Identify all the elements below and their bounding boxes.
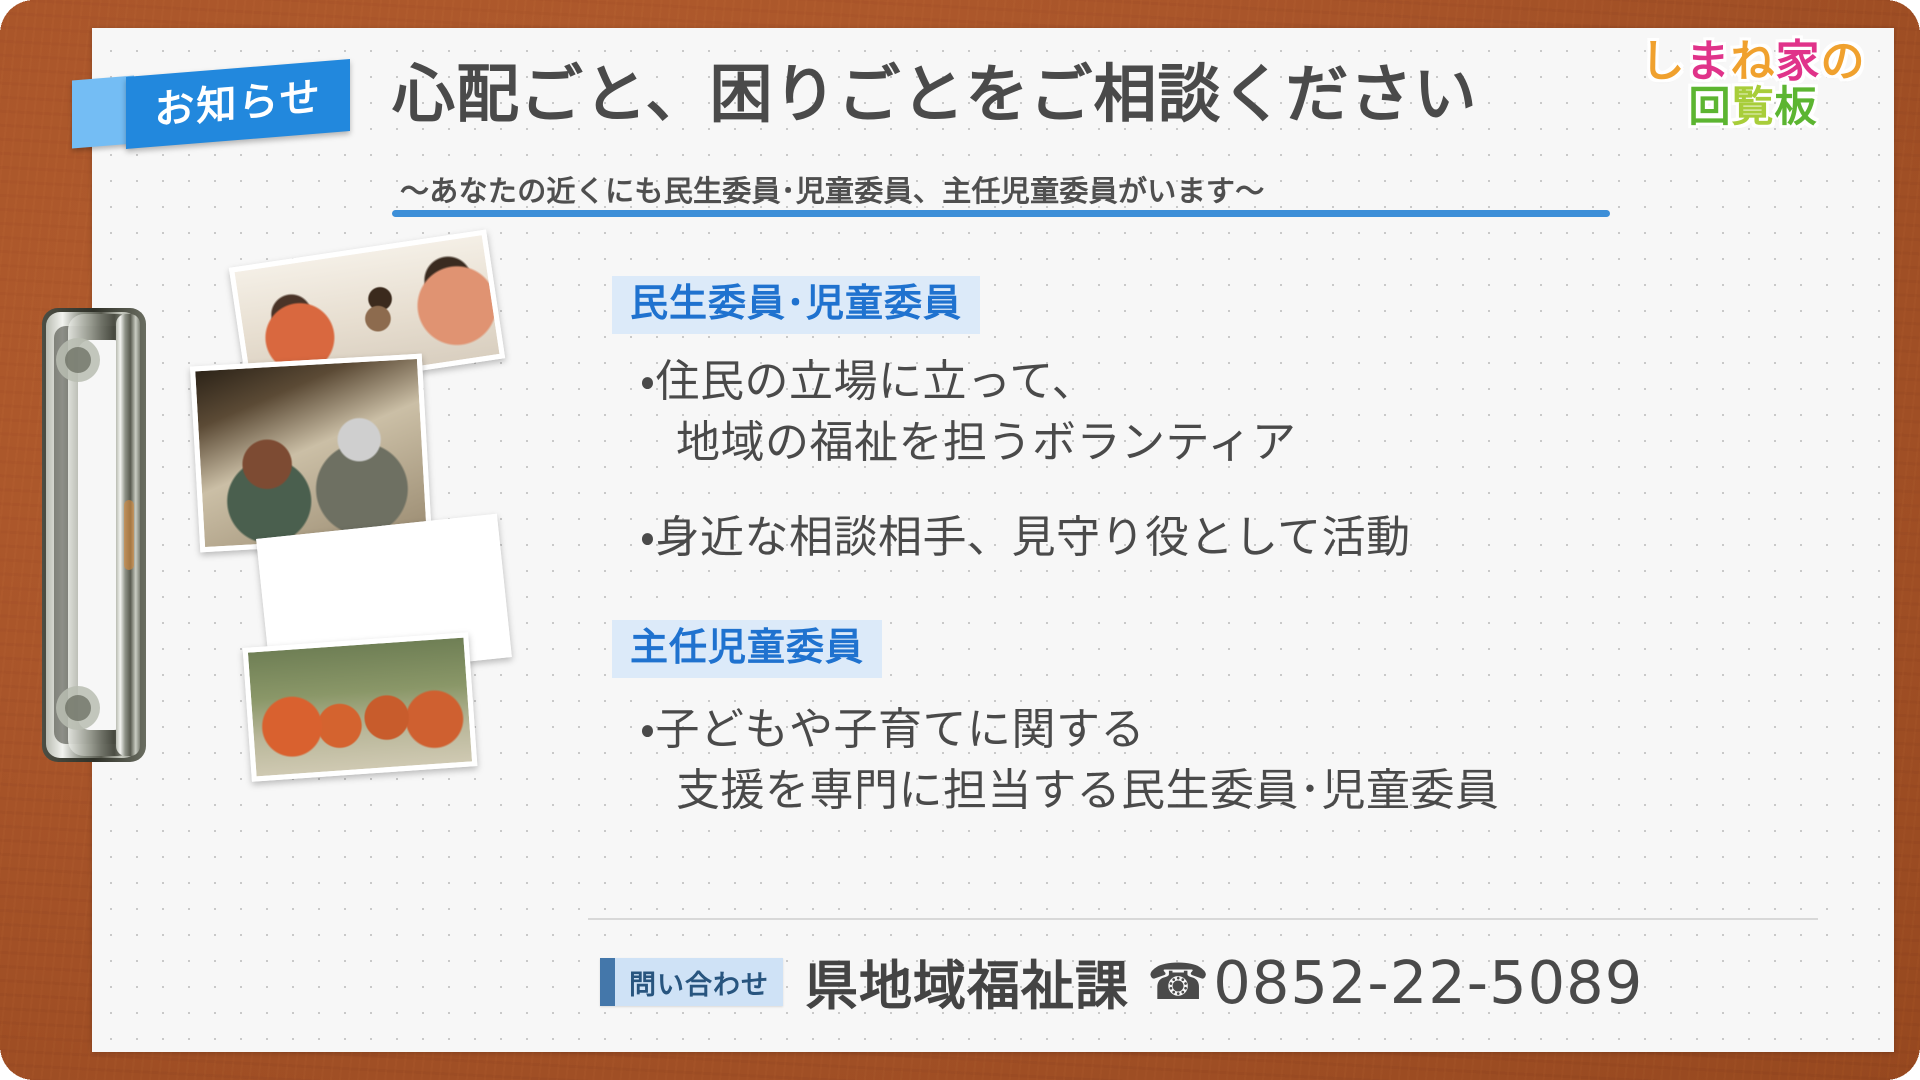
logo-line-2: 回覧板 [1638, 84, 1868, 129]
notice-badge-tail [72, 76, 134, 149]
logo-char: の [1821, 36, 1866, 87]
logo-char: 覧 [1731, 82, 1774, 131]
logo-char: し [1641, 36, 1686, 87]
title-underline-rule [392, 210, 1610, 217]
shimane-kairanban-logo: しまね家の 回覧板 [1638, 38, 1868, 166]
logo-char: 回 [1688, 82, 1731, 131]
bullet-text: 子どもや子育てに関する [655, 704, 1145, 755]
notice-badge-main: お知らせ [126, 59, 350, 149]
logo-line-1: しまね家の [1638, 38, 1868, 86]
section-heading-minsei: 民生委員･児童委員 [612, 276, 980, 334]
section-heading-shunin: 主任児童委員 [612, 620, 882, 678]
clipboard-clip-icon [38, 300, 164, 770]
contact-phone-number[interactable]: 0852-22-5089 [1213, 948, 1643, 1017]
bullet-marker: ・ [640, 356, 655, 407]
notice-badge: お知らせ [72, 62, 362, 148]
section-2-bullet-1-line-2: 支援を専門に担当する民生委員･児童委員 [640, 761, 1500, 822]
logo-char: 板 [1775, 82, 1818, 131]
contact-department: 県地域福祉課 [805, 944, 1129, 1020]
bullet-marker: ・ [640, 704, 655, 755]
bullet-text: 住民の立場に立って、 [655, 356, 1096, 407]
photo-outdoor-activity-image [248, 638, 472, 777]
section-2-bullet-1-line-1: ・子どもや子育てに関する [640, 700, 1500, 761]
footer-divider [588, 918, 1818, 920]
photo-collage [195, 248, 535, 788]
board-corner-top-left [0, 0, 34, 34]
logo-char: ま [1686, 36, 1731, 87]
contact-tag: 問い合わせ [600, 958, 783, 1006]
contact-footer: 問い合わせ 県地域福祉課 ☎ 0852-22-5089 [600, 955, 1643, 1009]
section-2-bullet-1: ・子どもや子育てに関する 支援を専門に担当する民生委員･児童委員 [640, 700, 1500, 821]
logo-char: 家 [1776, 36, 1821, 87]
contact-tag-label: 問い合わせ [615, 958, 783, 1006]
section-1-bullet-1: ・住民の立場に立って、 地域の福祉を担うボランティア [640, 352, 1296, 473]
page-subtitle: 〜あなたの近くにも民生委員･児童委員、主任児童委員がいます〜 [400, 168, 1590, 210]
contact-tag-bar [600, 958, 615, 1006]
bullet-marker: ・ [640, 512, 655, 563]
board-corner-bottom-left [0, 1046, 34, 1080]
bullet-text: 身近な相談相手、見守り役として活動 [655, 512, 1410, 563]
photo-outdoor-activity [243, 632, 478, 781]
photo-visit-elderly [190, 354, 432, 553]
section-1-bullet-2-line-1: ・身近な相談相手、見守り役として活動 [640, 508, 1411, 569]
section-1-bullet-2: ・身近な相談相手、見守り役として活動 [640, 508, 1411, 569]
photo-visit-elderly-image [195, 359, 426, 547]
telephone-icon: ☎ [1147, 957, 1209, 1007]
section-1-bullet-1-line-2: 地域の福祉を担うボランティア [640, 413, 1296, 474]
logo-char: ね [1731, 36, 1776, 87]
notice-badge-label: お知らせ [126, 59, 350, 149]
page-title: 心配ごと、困りごとをご相談ください [392, 60, 1572, 131]
section-1-bullet-1-line-1: ・住民の立場に立って、 [640, 352, 1296, 413]
